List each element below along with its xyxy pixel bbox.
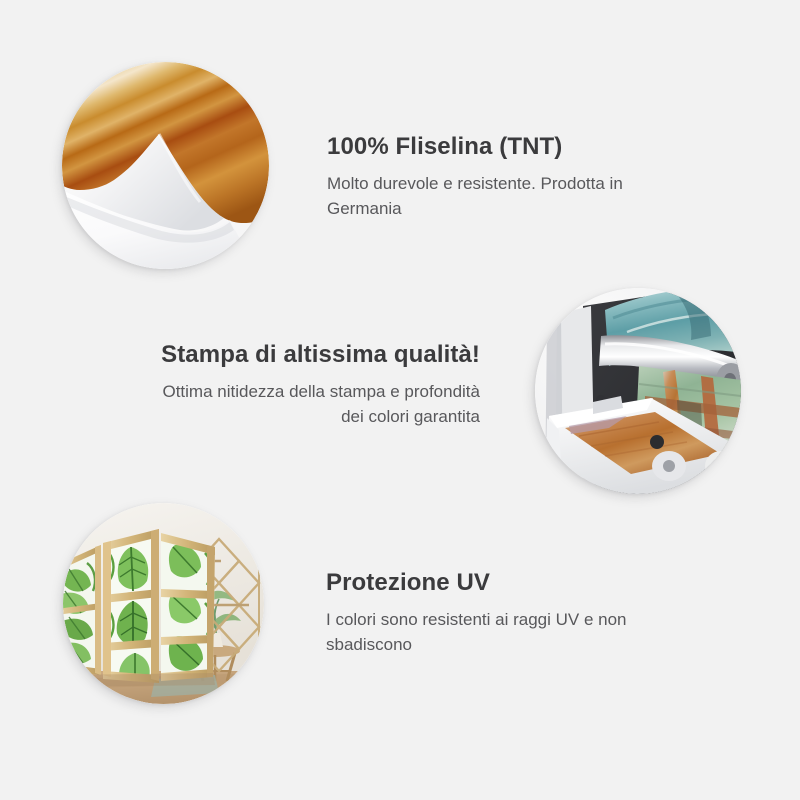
- printer-side-shadow: [545, 316, 563, 494]
- printer-illustration: [535, 288, 741, 494]
- interior-scene: [63, 503, 264, 704]
- wallpaper-illustration: [62, 62, 269, 269]
- feature-description-stampa: Ottima nitidezza della stampa e profondi…: [160, 380, 480, 429]
- divider-panel-left: [63, 545, 101, 675]
- wallpaper-scene: [62, 62, 269, 269]
- wallpaper-sheet-curled-corner-photo: [62, 62, 269, 269]
- feature-description-uv: I colori sono resistenti ai raggi UV e n…: [326, 608, 666, 657]
- feature-description-fliselina: Molto durevole e resistente. Prodotta in…: [327, 172, 667, 221]
- feature-text-fliselina: 100% Fliselina (TNT) Molto durevole e re…: [327, 134, 667, 221]
- feature-title-fliselina: 100% Fliselina (TNT): [327, 134, 667, 161]
- large-format-printer-photo: [535, 288, 741, 494]
- interior-illustration: [63, 503, 264, 704]
- feature-graphic: 100% Fliselina (TNT) Molto durevole e re…: [0, 0, 800, 800]
- printer-scene: [535, 288, 741, 494]
- divider-shadow: [63, 673, 215, 687]
- divider-panel-center: [103, 529, 159, 689]
- feature-title-uv: Protezione UV: [326, 570, 666, 597]
- tropical-room-divider-interior-photo: [63, 503, 264, 704]
- feature-text-uv: Protezione UV I colori sono resistenti a…: [326, 570, 666, 657]
- feature-text-stampa: Stampa di altissima qualità! Ottima niti…: [160, 342, 480, 429]
- divider-panel-right: [161, 533, 215, 681]
- room-divider-screen: [63, 529, 215, 689]
- feature-title-stampa: Stampa di altissima qualità!: [160, 342, 480, 369]
